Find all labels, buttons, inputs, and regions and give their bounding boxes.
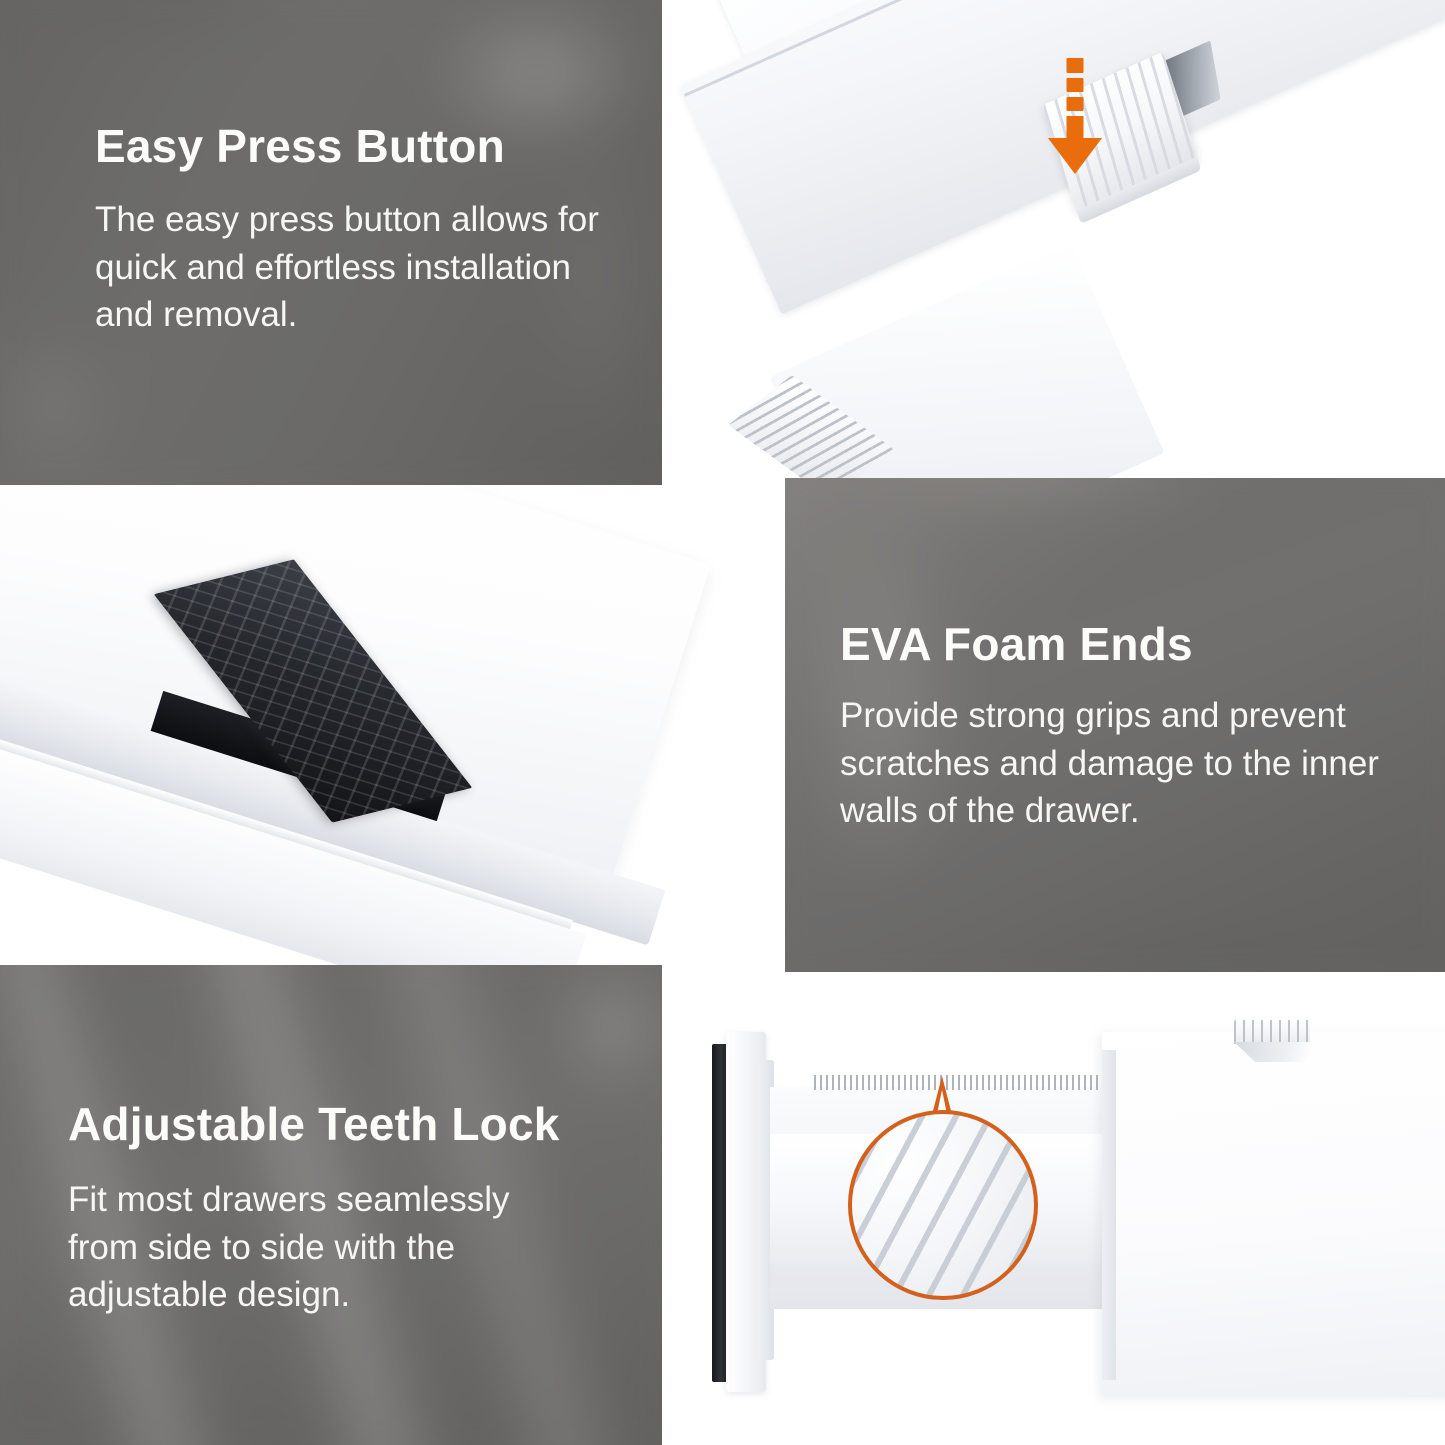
press-button-tab (1234, 1020, 1310, 1044)
feature-description-easy-press-button: The easy press button allows for quick a… (95, 196, 615, 339)
callout-circle-teeth-detail (848, 1110, 1038, 1300)
divider-body-panel (1102, 1032, 1445, 1397)
arrow-dash-1 (1067, 58, 1084, 73)
feature-title-easy-press-button: Easy Press Button (95, 122, 635, 170)
feature-block-easy-press-button: Easy Press Button The easy press button … (95, 122, 635, 339)
feature-title-eva-foam-ends: EVA Foam Ends (840, 620, 1420, 668)
photo-press-button (662, 0, 1445, 478)
feature-description-eva-foam-ends: Provide strong grips and prevent scratch… (840, 692, 1400, 835)
arrow-dash-3 (1067, 97, 1084, 111)
feature-description-adjustable-teeth-lock: Fit most drawers seamlessly from side to… (68, 1176, 578, 1319)
feature-block-adjustable-teeth-lock: Adjustable Teeth Lock Fit most drawers s… (68, 1100, 628, 1319)
press-direction-arrow (1030, 58, 1120, 183)
divider-body-panel-lip (1102, 1050, 1116, 1380)
feature-block-eva-foam-ends: EVA Foam Ends Provide strong grips and p… (840, 620, 1420, 835)
arrow-head (1048, 138, 1102, 174)
photo-adjustable-teeth-lock (662, 972, 1445, 1445)
arrow-dash-2 (1067, 78, 1084, 92)
infographic-canvas: Easy Press Button The easy press button … (0, 0, 1445, 1445)
feature-title-adjustable-teeth-lock: Adjustable Teeth Lock (68, 1100, 628, 1148)
teeth-magnifier-callout (848, 1082, 1048, 1282)
photo-eva-foam-end (0, 485, 785, 965)
